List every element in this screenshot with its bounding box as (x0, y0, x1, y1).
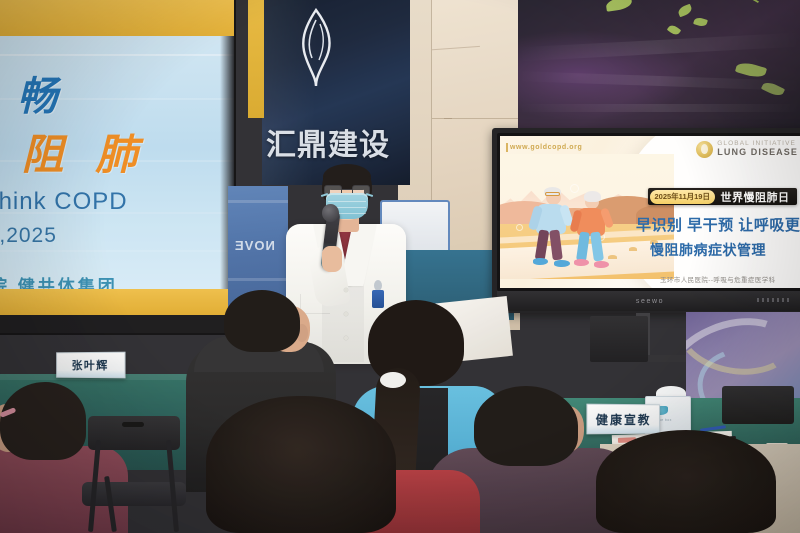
lung-logo-icon (696, 141, 713, 158)
banner-yellow-edge (248, 0, 264, 118)
slide-content: www.goldcopd.org GLOBAL INITIATIVE LUNG … (500, 136, 800, 288)
microphone-head (322, 204, 339, 222)
event-date-banner: 2025年11月19日 世界慢阻肺日 (648, 188, 797, 205)
gold-logo: GLOBAL INITIATIVE LUNG DISEASE (696, 141, 798, 158)
screen-date: 19,2025 (0, 224, 57, 248)
screen-content: 顺 畅 慢 阻 肺 , Think COPD 19,2025 院 健共体集团 O… (0, 36, 234, 315)
projection-screen: 顺 畅 慢 阻 肺 , Think COPD 19,2025 院 健共体集团 O… (0, 0, 234, 333)
slide-event-title: 世界慢阻肺日 (716, 188, 797, 205)
construction-banner-text: 汇鼎建设 (266, 120, 406, 164)
photo-scene: 汇鼎建设 顺 畅 慢 阻 肺 , Think COPD 19,2025 院 健共… (0, 0, 800, 533)
rollup-banner-text: NOVE (234, 238, 275, 253)
slide-subtitle: 玉环市人民医院--呼吸与危重症医学科 (660, 274, 776, 284)
doctor-hand (322, 246, 342, 272)
monitor-ports-icon (757, 298, 790, 302)
vine-banner (518, 0, 800, 130)
name-placard: 张叶辉 (56, 352, 125, 379)
gold-logo-line2: LUNG DISEASE (717, 148, 798, 157)
screen-headline-cn-blue: 顺 畅 (0, 64, 66, 122)
lcd-presentation-screen[interactable]: www.goldcopd.org GLOBAL INITIATIVE LUNG … (492, 128, 800, 313)
equipment-case (722, 386, 794, 424)
screen-headline-en: , Think COPD (0, 188, 128, 216)
folding-chair (78, 416, 186, 533)
screen-top-border (0, 0, 234, 36)
flame-logo-icon (290, 8, 342, 88)
monitor-brand: seewo (636, 298, 664, 305)
slide-date-badge: 2025年11月19日 (650, 190, 715, 204)
slide-headline-1: 早识别 早干预 让呼吸更轻松 (636, 214, 800, 235)
construction-banner: 汇鼎建设 (262, 0, 410, 185)
hair-tie (380, 372, 406, 388)
monitor-chin: seewo (497, 291, 800, 311)
slide-headline-2: 慢阻肺病症状管理 (650, 240, 766, 260)
slide-url: www.goldcopd.org (510, 144, 582, 151)
audience-front-center (206, 396, 396, 533)
audience-back-right (596, 430, 776, 533)
laptop[interactable] (590, 316, 648, 362)
illustration-person-woman (570, 191, 629, 276)
screen-headline-cn-orange: 慢 阻 肺 (0, 121, 147, 182)
name-placard-text: 张叶辉 (72, 357, 109, 373)
